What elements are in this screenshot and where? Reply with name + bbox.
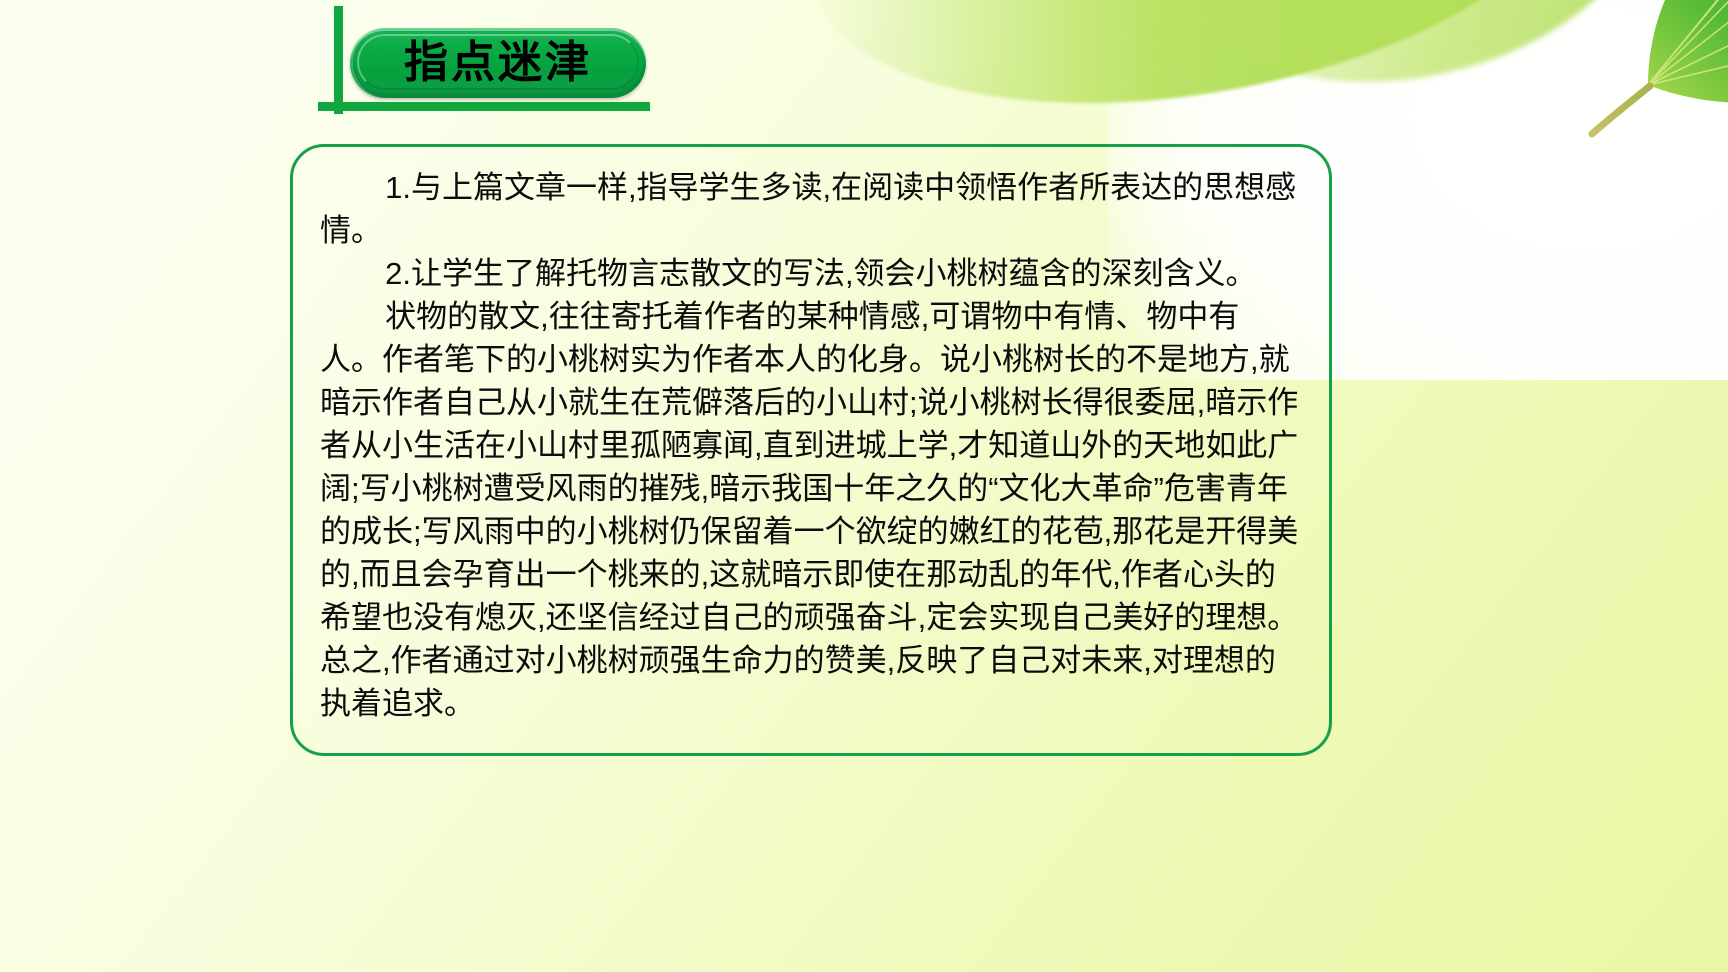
slide-canvas: 指点迷津 1.与上篇文章一样,指导学生多读,在阅读中领悟作者所表达的思想感情。 … (0, 0, 1728, 972)
explanation-paragraph: 状物的散文,往往寄托着作者的某种情感,可谓物中有情、物中有人。作者笔下的小桃树实… (320, 295, 1300, 725)
title-horizontal-rule (318, 102, 650, 111)
body-text: 1.与上篇文章一样,指导学生多读,在阅读中领悟作者所表达的思想感情。 2.让学生… (320, 166, 1300, 725)
green-swoosh-band (808, 0, 1587, 146)
leaf-icon (1398, 0, 1728, 210)
title-vertical-rule (334, 6, 343, 114)
title-block: 指点迷津 (312, 6, 732, 122)
title-pill: 指点迷津 (350, 28, 646, 98)
objective-item-2: 2.让学生了解托物言志散文的写法,领会小桃树蕴含的深刻含义。 (320, 252, 1300, 295)
page-title: 指点迷津 (404, 41, 592, 85)
objective-item-1: 1.与上篇文章一样,指导学生多读,在阅读中领悟作者所表达的思想感情。 (320, 166, 1300, 252)
green-swoosh-band-secondary (1120, 0, 1676, 103)
